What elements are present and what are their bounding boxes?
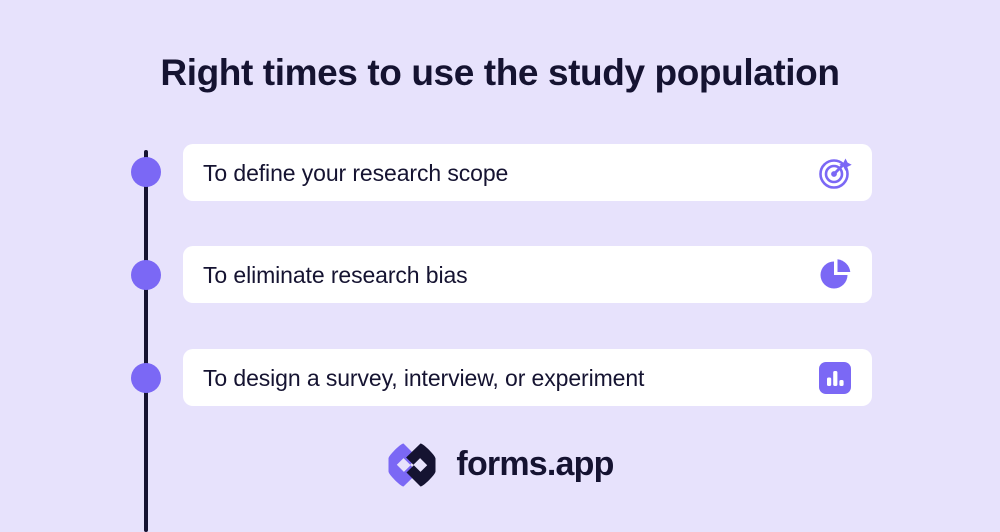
list-item-label: To design a survey, interview, or experi… — [203, 363, 816, 393]
list-item[interactable]: To eliminate research bias — [183, 246, 872, 303]
list-item[interactable]: To design a survey, interview, or experi… — [183, 349, 872, 406]
page-title: Right times to use the study population — [0, 49, 1000, 97]
list-item[interactable]: To define your research scope — [183, 144, 872, 201]
brand-logo: forms.app — [0, 440, 1000, 488]
timeline-dot-3 — [131, 363, 161, 393]
brand-logo-text: forms.app — [456, 444, 613, 484]
target-icon — [816, 154, 854, 192]
pie-chart-icon — [816, 256, 854, 294]
bar-chart-badge-icon — [816, 359, 854, 397]
timeline-dot-2 — [131, 260, 161, 290]
timeline-dot-1 — [131, 157, 161, 187]
infographic-canvas: Right times to use the study population … — [0, 0, 1000, 532]
list-item-label: To eliminate research bias — [203, 260, 816, 290]
forms-app-logo-mark — [386, 440, 442, 488]
list-item-label: To define your research scope — [203, 158, 816, 188]
